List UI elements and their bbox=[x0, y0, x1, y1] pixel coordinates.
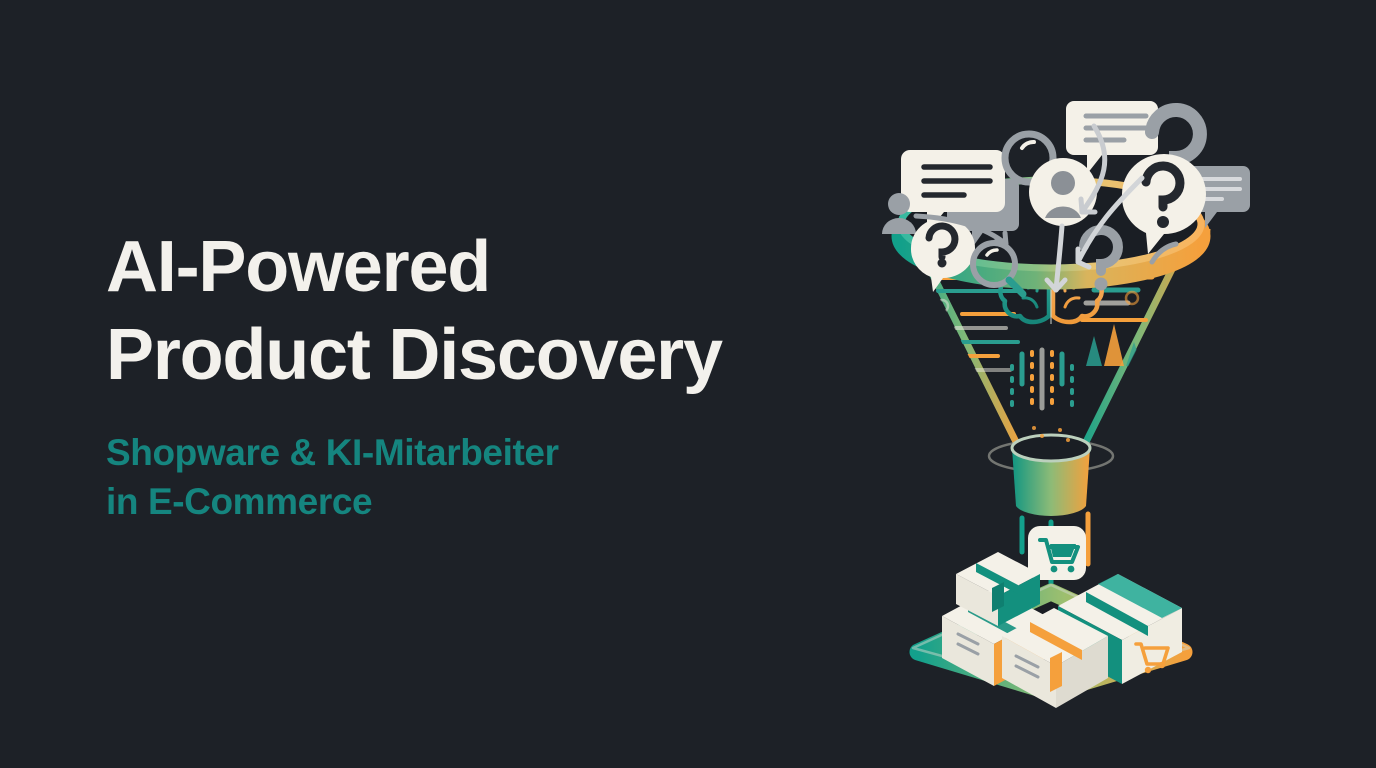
shopping-cart-badge-icon bbox=[1028, 526, 1086, 580]
subtitle-line-1: Shopware & KI-Mitarbeiter bbox=[106, 428, 866, 477]
title-line-1: AI-Powered bbox=[106, 224, 866, 312]
slide-text-block: AI-Powered Product Discovery Shopware & … bbox=[106, 224, 866, 526]
subtitle-line-2: in E-Commerce bbox=[106, 477, 866, 526]
title-line-2: Product Discovery bbox=[106, 312, 866, 400]
presentation-slide: AI-Powered Product Discovery Shopware & … bbox=[0, 0, 1376, 768]
page-title: AI-Powered Product Discovery bbox=[106, 224, 866, 400]
funnel-stem bbox=[1012, 426, 1090, 516]
funnel-illustration bbox=[846, 36, 1256, 716]
user-avatar-icon bbox=[1029, 158, 1097, 226]
page-subtitle: Shopware & KI-Mitarbeiter in E-Commerce bbox=[106, 400, 866, 526]
